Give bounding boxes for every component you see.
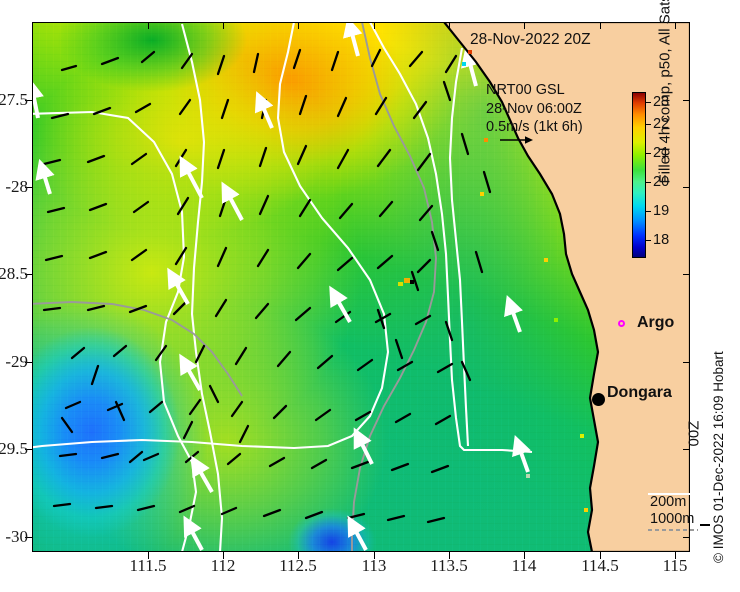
- product-annotation: NRT00 GSL 28-Nov 06:00Z 0.5m/s (1kt 6h): [486, 81, 583, 137]
- y-tick-label: -29: [5, 352, 28, 372]
- argo-legend-label: Argo: [637, 314, 674, 332]
- imos-credit: © IMOS 01-Dec-2022 16:09 Hobart: [711, 351, 726, 563]
- legend-tick: [700, 524, 710, 526]
- map-plot-area: [32, 22, 690, 552]
- colorbar-tick-label: 19: [653, 203, 669, 219]
- depth-contour-legend: 200m 1000m: [650, 494, 694, 528]
- y-tick-label: -28: [5, 177, 28, 197]
- x-tick-label: 111.5: [130, 556, 167, 576]
- y-tick-label: -30: [5, 527, 28, 547]
- annotation-line-2: 28-Nov 06:00Z: [486, 100, 583, 119]
- annotation-line-1: NRT00 GSL: [486, 81, 583, 100]
- colorbar: [632, 92, 646, 258]
- x-tick-label: 114: [512, 556, 537, 576]
- x-tick-label: 113: [362, 556, 387, 576]
- x-tick-label: 115: [663, 556, 688, 576]
- right-axis-time-label: 00Z: [686, 421, 703, 447]
- depth-1000-label: 1000m: [650, 511, 694, 528]
- x-tick-label: 113.5: [430, 556, 468, 576]
- data-speckles: [32, 22, 690, 552]
- colorbar-tick-label: 18: [653, 232, 669, 248]
- colorbar-title: Filled 4h comp, p50, All Sats: [657, 0, 674, 184]
- reference-vector-arrow: [500, 134, 534, 146]
- x-tick-label: 112: [211, 556, 236, 576]
- x-tick-label: 114.5: [581, 556, 619, 576]
- y-tick-label: -28.5: [0, 264, 28, 284]
- x-tick-label: 112.5: [279, 556, 317, 576]
- dongara-marker-icon: [592, 393, 605, 406]
- contour-1000m-sample: [648, 529, 698, 531]
- argo-marker-icon: [618, 320, 625, 327]
- title-datestamp: 28-Nov-2022 20Z: [470, 31, 591, 49]
- depth-200-label: 200m: [650, 494, 694, 511]
- y-tick-label: -27.5: [0, 90, 28, 110]
- y-tick-label: -29.5: [0, 439, 28, 459]
- chart-canvas: 111.5 112 112.5 113 113.5 114 114.5 115 …: [0, 0, 740, 592]
- dongara-place-label: Dongara: [607, 384, 672, 402]
